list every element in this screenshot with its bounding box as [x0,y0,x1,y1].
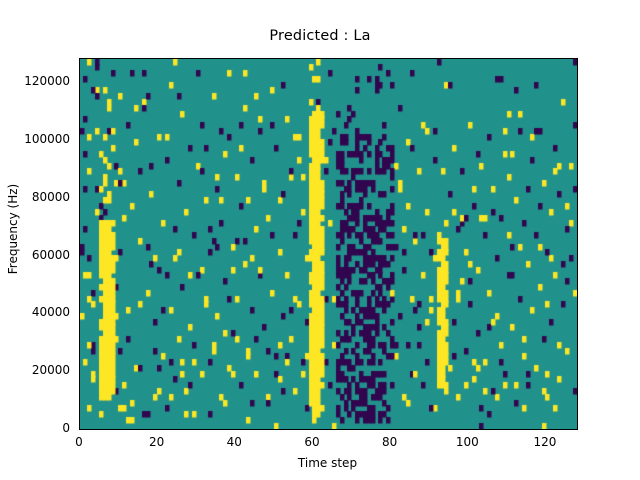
x-tick-mark [235,429,236,430]
x-tick-label: 20 [127,436,187,448]
x-tick-label: 40 [204,436,264,448]
x-tick-label: 100 [437,436,497,448]
y-tick-label: 60000 [6,249,70,261]
y-tick-label: 0 [6,422,70,434]
x-tick-label: 80 [360,436,420,448]
y-tick-mark [79,429,80,430]
x-axis-title: Time step [79,456,576,470]
y-tick-label: 80000 [6,191,70,203]
y-tick-mark [79,82,80,83]
y-tick-label: 100000 [6,133,70,145]
x-tick-mark [313,429,314,430]
y-tick-mark [79,140,80,141]
x-tick-label: 120 [515,436,575,448]
matplotlib-figure: Predicted : La Time step Frequency (Hz) … [0,0,640,480]
x-tick-mark [80,429,81,430]
y-axis-title: Frequency (Hz) [6,154,20,304]
y-tick-mark [79,371,80,372]
y-tick-label: 40000 [6,306,70,318]
y-tick-label: 20000 [6,364,70,376]
y-tick-mark [79,198,80,199]
x-tick-label: 60 [282,436,342,448]
x-tick-mark [391,429,392,430]
x-tick-mark [546,429,547,430]
heatmap-axes [79,58,578,430]
y-tick-mark [79,313,80,314]
x-tick-label: 0 [49,436,109,448]
x-tick-mark [158,429,159,430]
y-tick-mark [79,256,80,257]
heatmap-image [80,59,577,429]
y-tick-label: 120000 [6,75,70,87]
x-tick-mark [468,429,469,430]
chart-title: Predicted : La [0,28,640,44]
